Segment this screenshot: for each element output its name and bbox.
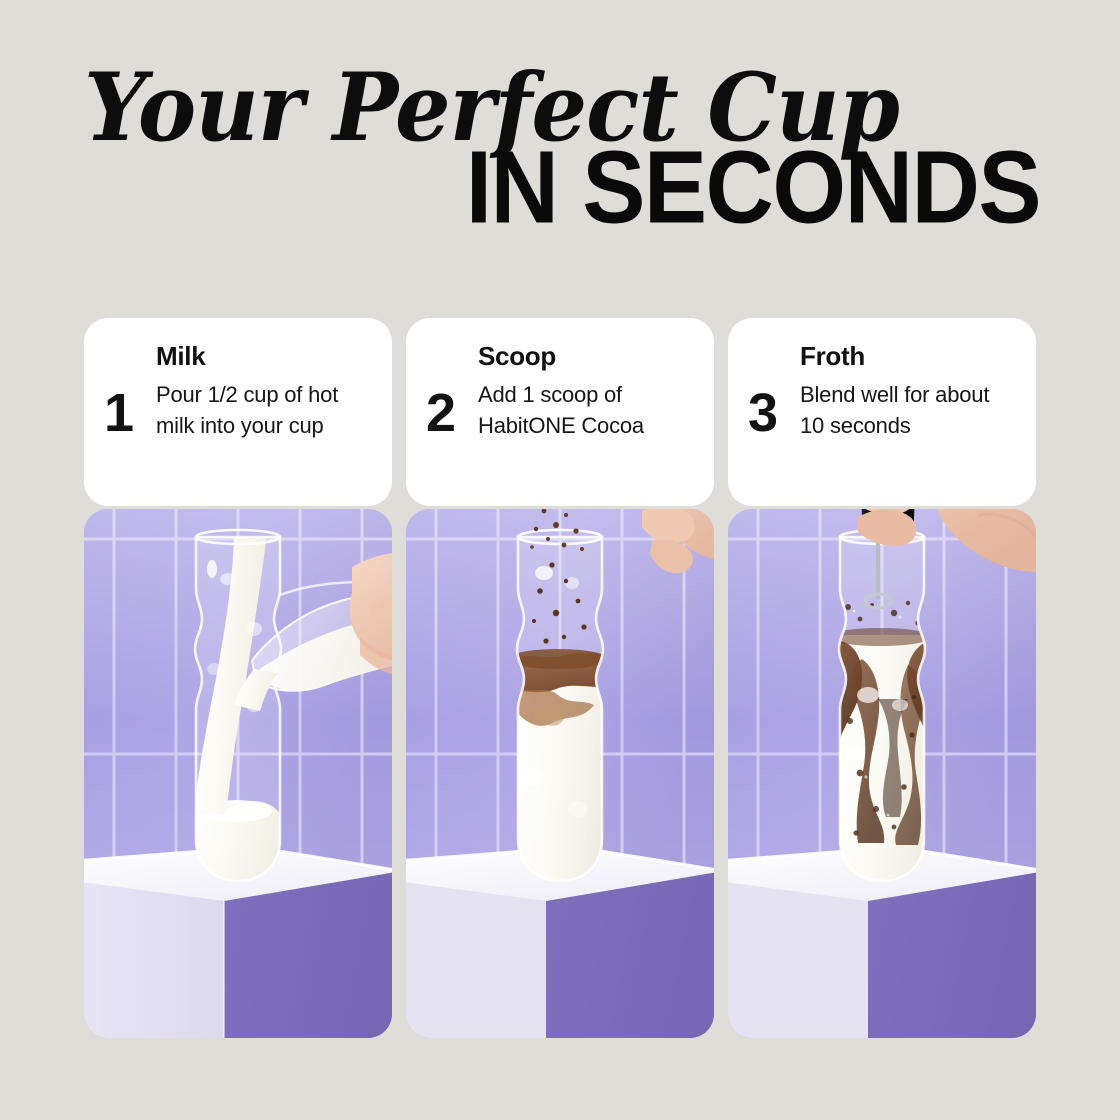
headline-bold: IN SECONDS [55, 141, 1040, 236]
step-3-description: Blend well for about 10 seconds [800, 379, 1018, 442]
step-card-3: 3 Froth Blend well for about 10 seconds [728, 318, 1036, 1038]
milk-pour-illustration [84, 509, 392, 1038]
step-3-photo [728, 509, 1036, 1038]
step-1-number: 1 [104, 386, 152, 440]
step-1-photo [84, 509, 392, 1038]
step-3-card: 3 Froth Blend well for about 10 seconds [728, 318, 1036, 506]
frother-illustration [728, 509, 1036, 1038]
step-2-card: 2 Scoop Add 1 scoop of HabitONE Cocoa [406, 318, 714, 506]
step-3-text: Froth Blend well for about 10 seconds [796, 342, 1018, 442]
step-card-1: 1 Milk Pour 1/2 cup of hot milk into you… [84, 318, 392, 1038]
step-2-number: 2 [426, 386, 474, 440]
step-2-photo: HABIT ONE [406, 509, 714, 1038]
step-1-description: Pour 1/2 cup of hot milk into your cup [156, 379, 374, 442]
cocoa-scoop-illustration: HABIT ONE [406, 509, 714, 1038]
steps-row: 1 Milk Pour 1/2 cup of hot milk into you… [84, 318, 1036, 1038]
step-1-text: Milk Pour 1/2 cup of hot milk into your … [152, 342, 374, 442]
step-1-title: Milk [156, 342, 374, 371]
step-2-title: Scoop [478, 342, 696, 371]
poster-stage: Your Perfect Cup IN SECONDS 1 Milk Pour … [0, 0, 1120, 1120]
step-2-description: Add 1 scoop of HabitONE Cocoa [478, 379, 696, 442]
step-3-title: Froth [800, 342, 1018, 371]
step-1-card: 1 Milk Pour 1/2 cup of hot milk into you… [84, 318, 392, 506]
page-title: Your Perfect Cup IN SECONDS [84, 62, 1040, 231]
step-3-number: 3 [748, 386, 796, 440]
step-card-2: 2 Scoop Add 1 scoop of HabitONE Cocoa [406, 318, 714, 1038]
step-2-text: Scoop Add 1 scoop of HabitONE Cocoa [474, 342, 696, 442]
